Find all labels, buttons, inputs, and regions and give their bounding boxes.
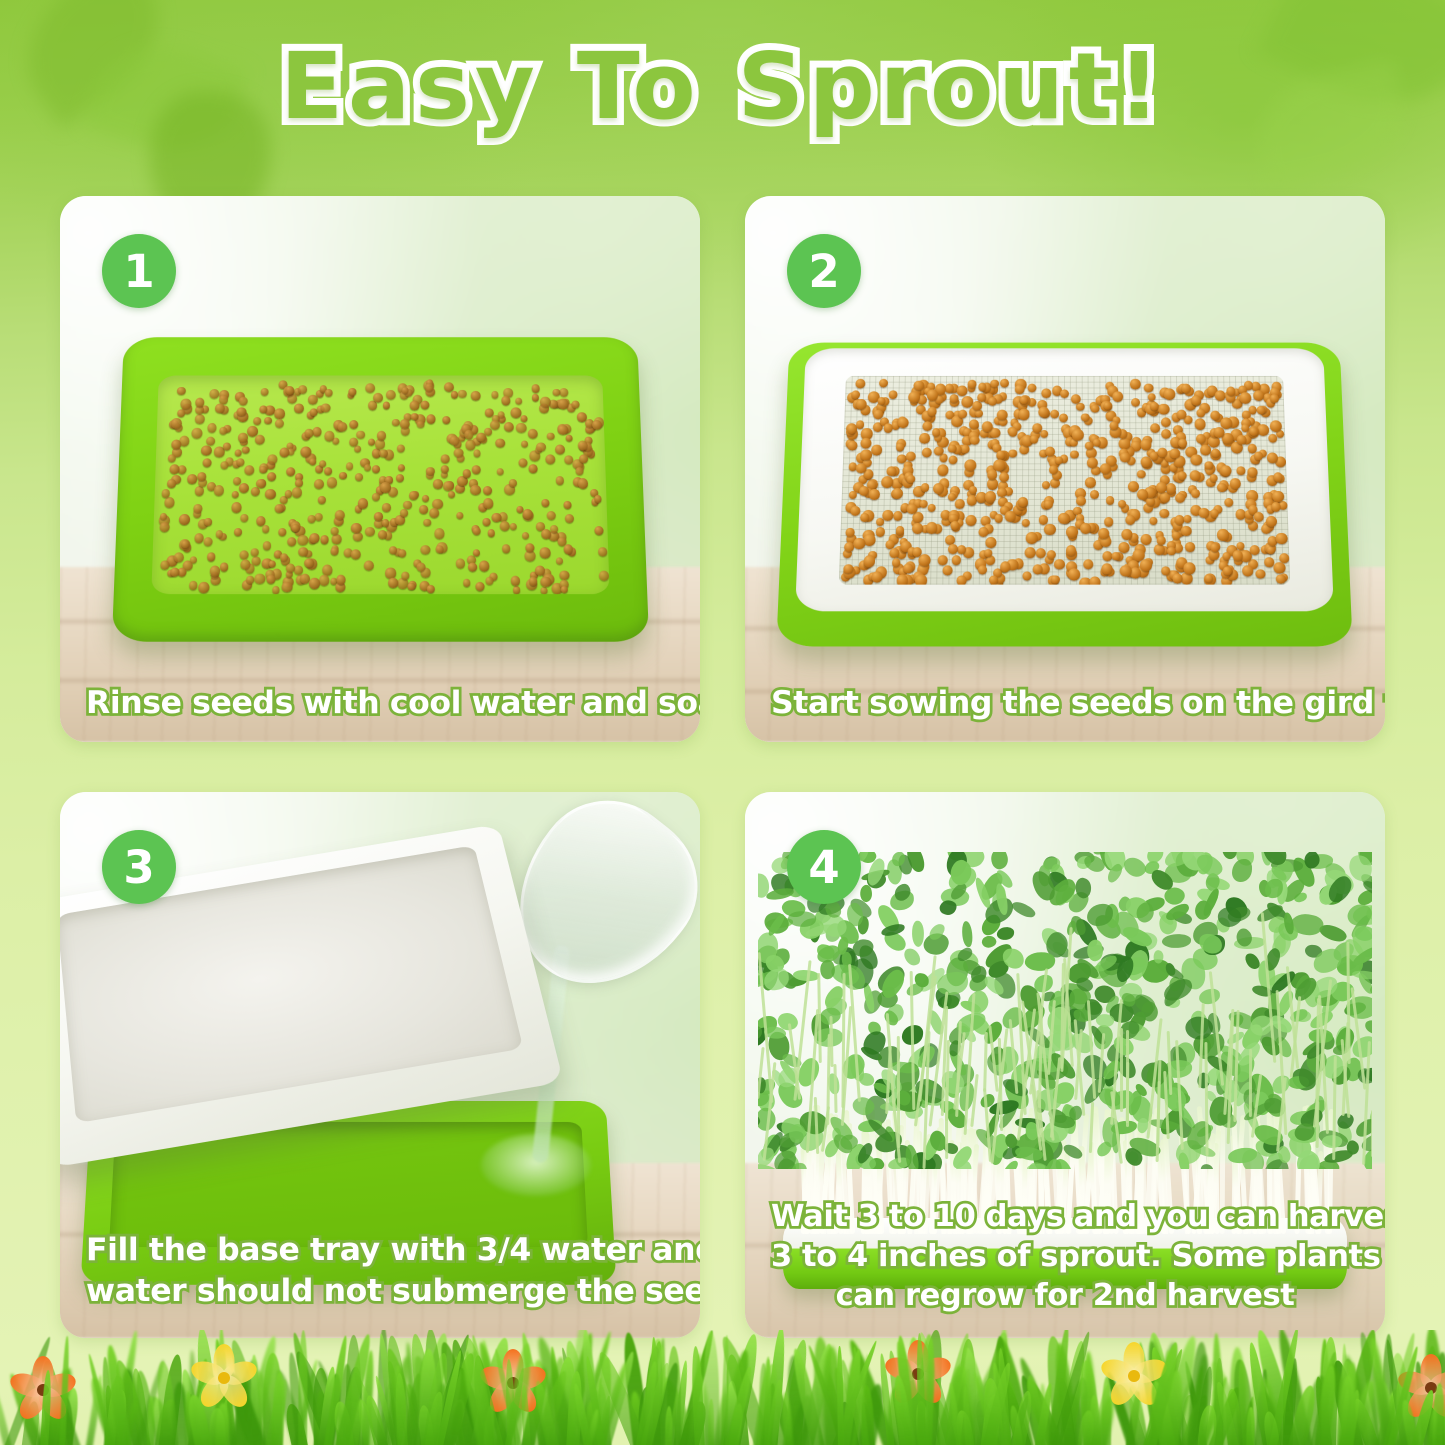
seed <box>846 528 855 537</box>
seed <box>167 479 176 488</box>
seed <box>449 435 459 445</box>
seed <box>893 511 903 521</box>
seed <box>435 545 443 553</box>
seed <box>1168 547 1177 555</box>
seed <box>884 424 893 433</box>
seed <box>365 526 375 536</box>
seed <box>898 417 909 427</box>
seed <box>285 467 294 476</box>
seed <box>317 496 325 504</box>
seed <box>299 573 309 583</box>
seed <box>476 432 485 441</box>
seed <box>218 394 228 403</box>
seed <box>159 512 166 519</box>
seed <box>240 559 251 570</box>
seed <box>495 438 505 447</box>
grass-blade <box>298 1330 308 1445</box>
seed <box>933 483 944 494</box>
seed <box>201 445 212 455</box>
seed <box>499 521 509 531</box>
seed <box>598 570 609 581</box>
seed <box>349 419 358 428</box>
seed <box>320 535 328 543</box>
seed <box>382 502 391 511</box>
seed <box>965 460 977 472</box>
seed <box>922 421 932 431</box>
seed <box>207 423 217 432</box>
flower-center <box>218 1372 230 1384</box>
seed <box>478 560 489 571</box>
seed <box>353 531 362 540</box>
step-caption-1: Rinse seeds with cool water and soak <box>60 683 700 742</box>
microgreen-canopy <box>758 852 1372 1169</box>
seed <box>856 420 865 429</box>
microgreen-leaf <box>1232 859 1252 882</box>
seed <box>552 388 560 395</box>
seed <box>326 477 336 487</box>
seed <box>473 527 481 535</box>
seed <box>298 546 308 556</box>
seed <box>386 389 396 399</box>
seed <box>264 488 275 499</box>
microgreen-leaf <box>1345 901 1372 929</box>
seed <box>300 446 311 457</box>
seed <box>1137 470 1146 479</box>
seed <box>191 427 202 438</box>
seed <box>907 504 917 514</box>
seed <box>397 444 405 452</box>
seed <box>920 433 930 443</box>
seed <box>388 578 398 588</box>
seed <box>565 434 573 442</box>
seed <box>313 478 324 488</box>
seed <box>279 552 288 561</box>
seed <box>482 517 490 525</box>
seed <box>872 571 883 582</box>
seed <box>564 455 573 464</box>
seed <box>443 480 453 490</box>
seed <box>334 509 345 520</box>
seed <box>948 493 956 501</box>
seed <box>1132 398 1141 407</box>
seed <box>429 507 439 517</box>
seed <box>520 414 528 421</box>
seed <box>238 396 247 405</box>
seed <box>1110 421 1119 429</box>
seed <box>215 530 223 537</box>
seed <box>195 414 205 423</box>
seed <box>547 432 554 439</box>
seed <box>1166 484 1176 494</box>
seed <box>320 403 329 412</box>
seed <box>278 527 286 535</box>
seed <box>256 478 266 487</box>
seed <box>516 422 527 432</box>
caption-line: Start sowing the seeds on the gird tray <box>771 683 1359 724</box>
seed <box>1258 424 1270 435</box>
seed <box>351 549 361 559</box>
seed <box>1022 519 1030 527</box>
seed <box>528 463 537 472</box>
seed <box>501 544 510 553</box>
seed <box>259 465 266 472</box>
seed <box>1060 414 1069 423</box>
seed <box>159 521 169 531</box>
seed <box>1113 391 1124 402</box>
seed <box>952 555 962 565</box>
seed <box>1148 393 1156 401</box>
step-caption-2: Start sowing the seeds on the gird tray <box>745 683 1385 742</box>
seed <box>1250 545 1261 555</box>
seed <box>912 522 923 533</box>
canopy-stalk <box>1126 1030 1129 1127</box>
seed <box>546 510 555 519</box>
seed <box>1221 465 1232 476</box>
step-panel-2: 2 Start sowing the seeds on the gird tra… <box>745 196 1385 742</box>
seed <box>467 562 476 571</box>
seed <box>978 383 986 391</box>
seed <box>1173 574 1183 584</box>
seed <box>848 441 858 451</box>
seed <box>541 498 549 506</box>
seed <box>202 458 212 467</box>
seed <box>913 512 924 523</box>
flower-center <box>1128 1370 1140 1382</box>
microgreen-leaf <box>1200 1163 1215 1169</box>
canopy-stalk <box>1370 1110 1372 1157</box>
seed <box>233 476 241 484</box>
seed <box>1140 559 1152 571</box>
seed <box>1130 379 1141 389</box>
seed <box>426 414 435 423</box>
seed <box>557 424 567 434</box>
seed <box>854 538 866 550</box>
seed <box>247 426 258 436</box>
seed <box>1025 547 1036 558</box>
seed <box>518 458 527 467</box>
seed <box>522 508 533 518</box>
seed <box>961 444 970 453</box>
seed <box>345 462 352 469</box>
seed <box>987 478 999 490</box>
grass-blade <box>147 1396 155 1445</box>
seed <box>1205 461 1213 469</box>
seed <box>1256 569 1266 579</box>
seed <box>903 563 913 573</box>
seed <box>236 457 245 466</box>
seed <box>965 515 977 526</box>
seed <box>1162 429 1172 439</box>
seed <box>988 470 998 480</box>
seed <box>1221 417 1233 428</box>
seed <box>401 386 408 393</box>
seed <box>852 390 861 399</box>
seed <box>170 418 181 428</box>
seed <box>1179 439 1187 447</box>
seed <box>220 461 228 469</box>
seed <box>253 417 261 425</box>
seed <box>188 580 197 589</box>
seed <box>330 526 338 534</box>
seed <box>304 557 314 567</box>
seed <box>577 440 588 450</box>
step-panel-4: 4 Wait 3 to 10 days and you can harvest … <box>745 792 1385 1338</box>
seed <box>1141 534 1152 545</box>
seed <box>433 479 443 489</box>
canopy-stalk <box>1119 1028 1122 1112</box>
caption-line: Fill the base tray with 3/4 water and th… <box>86 1230 674 1271</box>
canopy-stalk <box>1316 1101 1320 1148</box>
seed <box>376 431 385 440</box>
seed <box>555 476 564 485</box>
seed <box>1028 384 1037 393</box>
microgreen-leaf <box>911 920 925 946</box>
seed <box>563 501 571 509</box>
canopy-stalk <box>1089 1102 1094 1153</box>
seed <box>458 389 466 397</box>
soaking-seeds <box>151 375 610 594</box>
microgreen-leaf <box>961 921 972 948</box>
seed <box>1214 427 1225 437</box>
seed <box>379 449 387 457</box>
seed <box>1267 546 1275 554</box>
seed <box>443 382 453 392</box>
seed <box>591 419 601 429</box>
seed <box>256 516 266 525</box>
seed <box>1071 451 1079 459</box>
seed <box>1119 542 1130 553</box>
seed <box>173 552 183 562</box>
seed <box>206 552 215 561</box>
seed <box>1055 559 1065 569</box>
seed <box>160 560 169 569</box>
seed <box>578 454 587 463</box>
canopy-stalk <box>1249 1049 1252 1117</box>
seed <box>448 491 455 498</box>
seed <box>398 548 407 557</box>
seed <box>856 463 867 473</box>
seed <box>555 557 563 565</box>
microgreen-leaf <box>1061 1142 1083 1162</box>
seed <box>534 565 545 575</box>
seed <box>164 497 175 507</box>
seed <box>357 497 368 508</box>
seed <box>544 453 555 463</box>
seed <box>378 529 387 538</box>
seed <box>1009 449 1017 457</box>
seed <box>1144 383 1153 392</box>
poster-title-wrap: Easy To Sprout! <box>0 34 1445 140</box>
seed <box>483 498 494 508</box>
seed <box>336 575 345 584</box>
seed <box>263 416 271 424</box>
seed <box>1022 571 1031 580</box>
seed <box>864 556 876 567</box>
seed <box>177 386 185 394</box>
seed <box>238 482 249 492</box>
microgreen-leaf <box>1010 899 1037 921</box>
seed <box>1019 409 1030 420</box>
seed <box>291 486 302 497</box>
seed <box>339 472 346 479</box>
seed <box>455 511 463 519</box>
seed <box>968 380 977 388</box>
seed <box>914 380 924 390</box>
seed <box>308 395 317 404</box>
seed <box>1149 517 1157 525</box>
seed <box>879 378 888 387</box>
seed <box>297 535 307 545</box>
seed <box>922 447 932 457</box>
seed <box>1091 404 1099 412</box>
seed <box>1090 576 1101 584</box>
seed <box>462 579 469 586</box>
seed <box>1084 559 1094 569</box>
microgreen-leaf <box>963 988 993 1018</box>
seed <box>501 396 510 405</box>
seed <box>266 471 275 480</box>
seed <box>410 412 418 419</box>
seed <box>510 575 520 585</box>
seed <box>470 484 481 495</box>
seed <box>287 536 296 545</box>
seed <box>233 528 241 536</box>
seed <box>423 519 430 526</box>
seed <box>1068 568 1080 580</box>
seed <box>236 406 246 415</box>
seed <box>522 531 529 538</box>
seed <box>223 442 231 450</box>
seed <box>242 446 250 453</box>
seed <box>403 500 412 509</box>
step-badge-4: 4 <box>787 830 861 904</box>
microgreen-leaf <box>996 926 1014 940</box>
seed <box>230 502 240 512</box>
seed <box>194 533 204 543</box>
seed <box>364 382 374 392</box>
canopy-stalk <box>1156 1081 1160 1147</box>
seed <box>978 527 988 537</box>
seed <box>1033 423 1043 432</box>
seed <box>1041 430 1049 438</box>
seed <box>209 388 220 398</box>
seed <box>392 418 399 425</box>
seed <box>1076 402 1085 411</box>
seed <box>916 574 928 584</box>
seed <box>193 504 202 513</box>
seed <box>986 537 997 548</box>
seed <box>1122 529 1133 540</box>
seed <box>426 584 434 592</box>
seed <box>177 409 185 417</box>
caption-line: Wait 3 to 10 days and you can harvest <box>771 1197 1359 1237</box>
seed <box>261 524 269 532</box>
steps-grid: 1 Rinse seeds with cool water and soak <box>60 196 1385 1338</box>
seed <box>337 421 347 431</box>
seed <box>330 547 338 555</box>
seed <box>491 512 501 522</box>
seed <box>907 452 917 462</box>
seed <box>471 390 481 399</box>
seed <box>1276 533 1288 544</box>
seed <box>385 568 395 578</box>
seed <box>945 384 954 393</box>
seed <box>371 464 379 472</box>
microgreen-leaf <box>902 946 922 968</box>
seed <box>532 384 540 392</box>
seed <box>351 522 361 532</box>
seed <box>231 491 238 498</box>
seed <box>1026 532 1038 544</box>
seed <box>421 494 428 501</box>
seed <box>564 513 574 523</box>
seed <box>489 420 499 430</box>
seed <box>872 445 883 455</box>
seed <box>464 430 473 439</box>
seed <box>203 536 213 546</box>
seed <box>304 429 312 437</box>
seed <box>1072 429 1083 440</box>
seed <box>1119 438 1131 449</box>
seed <box>995 514 1004 523</box>
seed <box>244 465 255 475</box>
seed <box>896 443 904 451</box>
seed <box>528 576 537 585</box>
grass-blade <box>209 1408 226 1445</box>
seed <box>1237 467 1246 476</box>
caption-line: Rinse seeds with cool water and soak <box>86 683 674 724</box>
seed <box>560 586 567 593</box>
seed <box>285 563 294 572</box>
seed <box>161 489 170 497</box>
seed <box>921 483 930 491</box>
seed <box>1254 512 1265 522</box>
seed <box>453 447 463 456</box>
seed <box>284 386 293 395</box>
seed <box>455 558 465 568</box>
seed <box>844 564 854 574</box>
seed <box>487 529 495 537</box>
seed <box>268 560 276 568</box>
seed <box>532 394 539 401</box>
seed <box>284 489 292 497</box>
seed <box>274 408 284 418</box>
seed <box>194 398 203 407</box>
seed <box>309 578 320 589</box>
seed <box>238 433 248 442</box>
seed <box>856 379 866 388</box>
seed <box>1186 542 1196 552</box>
seed <box>1274 562 1286 574</box>
seed <box>266 574 275 583</box>
seed <box>540 396 551 407</box>
seed <box>889 391 898 400</box>
seed <box>294 479 302 487</box>
seed <box>373 392 383 402</box>
seed <box>240 514 248 522</box>
seed <box>1160 508 1170 517</box>
seed <box>307 514 315 522</box>
seed <box>321 564 332 575</box>
seed <box>594 525 603 534</box>
seed <box>374 512 383 521</box>
canopy-stalk <box>826 1034 831 1125</box>
seed <box>1044 523 1056 535</box>
seed <box>938 464 950 475</box>
seed <box>1276 574 1286 584</box>
seed <box>503 421 514 431</box>
seed <box>356 430 365 439</box>
